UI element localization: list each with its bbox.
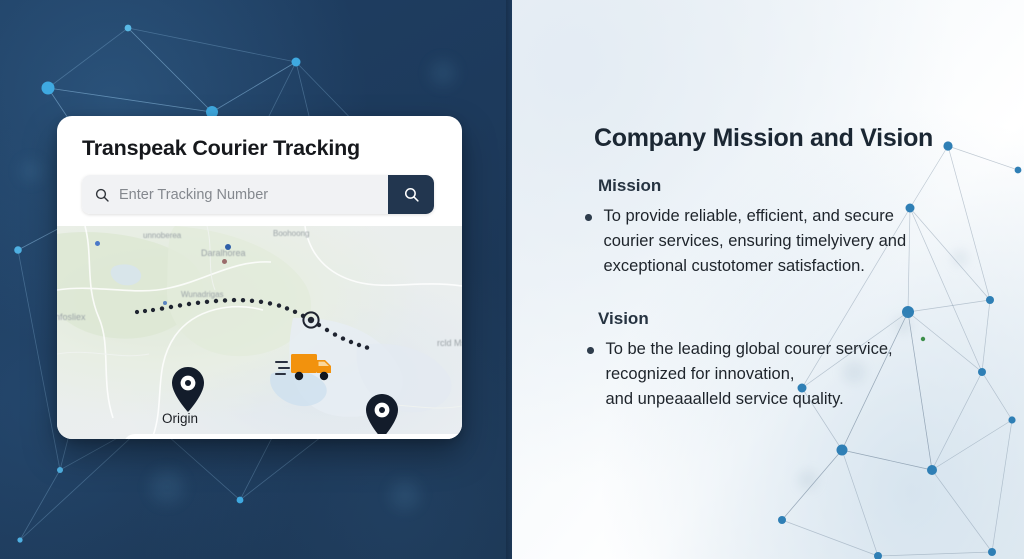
vision-heading: Vision [598,309,649,329]
mission-vision-content: Company Mission and Vision Mission To pr… [512,0,1024,559]
bokeh-blob [390,480,420,510]
mission-line: exceptional custotomer satisfaction. [604,254,907,279]
search-placeholder-text: Enter Tracking Number [119,187,268,203]
bokeh-blob [150,470,184,504]
vision-line: To be the leading global courer service, [606,337,893,362]
right-panel: Company Mission and Vision Mission To pr… [512,0,1024,559]
vision-bullet-text: To be the leading global courer service,… [606,337,893,412]
map-terrain [57,226,462,439]
tracking-card: Transpeak Courier Tracking Enter Trackin… [57,116,462,439]
map-place-label: Wunadrigas [181,290,224,299]
map-place-label: unnoberea [143,231,181,240]
vision-line: recognized for innovation, [606,362,893,387]
map-poi-dot [225,244,231,250]
status-info-panel: Status: In Transit Estimated Delivery: T… [123,434,462,439]
tracking-search-row: Enter Tracking Number [82,175,434,214]
destination-pin-icon [363,392,401,439]
mission-line: To provide reliable, efficient, and secu… [604,204,907,229]
map-place-label: nfosliex [57,312,86,322]
mission-heading: Mission [598,176,661,196]
bullet-dot-icon [585,214,592,221]
mission-bullet-text: To provide reliable, efficient, and secu… [604,204,907,279]
search-submit-button[interactable] [388,175,434,214]
bokeh-blob [20,160,42,182]
map-poi-dot [222,259,227,264]
map-place-label: rcld Ms [437,338,462,348]
page-title: Company Mission and Vision [594,124,933,153]
map-poi-dot [95,241,100,246]
bokeh-blob [430,60,456,86]
bullet-dot-icon [587,347,594,354]
mission-line: courier services, ensuring timelyivery a… [604,229,907,254]
map-poi-dot [163,301,167,305]
search-icon [94,187,110,203]
vision-bullet-item: To be the leading global courer service,… [587,337,987,412]
delivery-truck-icon [275,350,337,384]
map-place-label: Boohoong [273,229,309,238]
origin-pin-icon [169,365,207,415]
origin-label: Origin [162,411,198,426]
route-map[interactable]: Boohoong Daralhorea unnoberea Wunadrigas… [57,226,462,439]
card-title: Transpeak Courier Tracking [82,136,360,161]
map-place-label: Daralhorea [201,248,246,258]
search-input[interactable]: Enter Tracking Number [82,175,388,214]
vision-line: and unpeaaalleld service quality. [606,387,893,412]
slide-canvas: Company Mission and Vision Mission To pr… [0,0,1024,559]
search-icon [403,186,420,203]
mission-bullet-item: To provide reliable, efficient, and secu… [585,204,985,279]
